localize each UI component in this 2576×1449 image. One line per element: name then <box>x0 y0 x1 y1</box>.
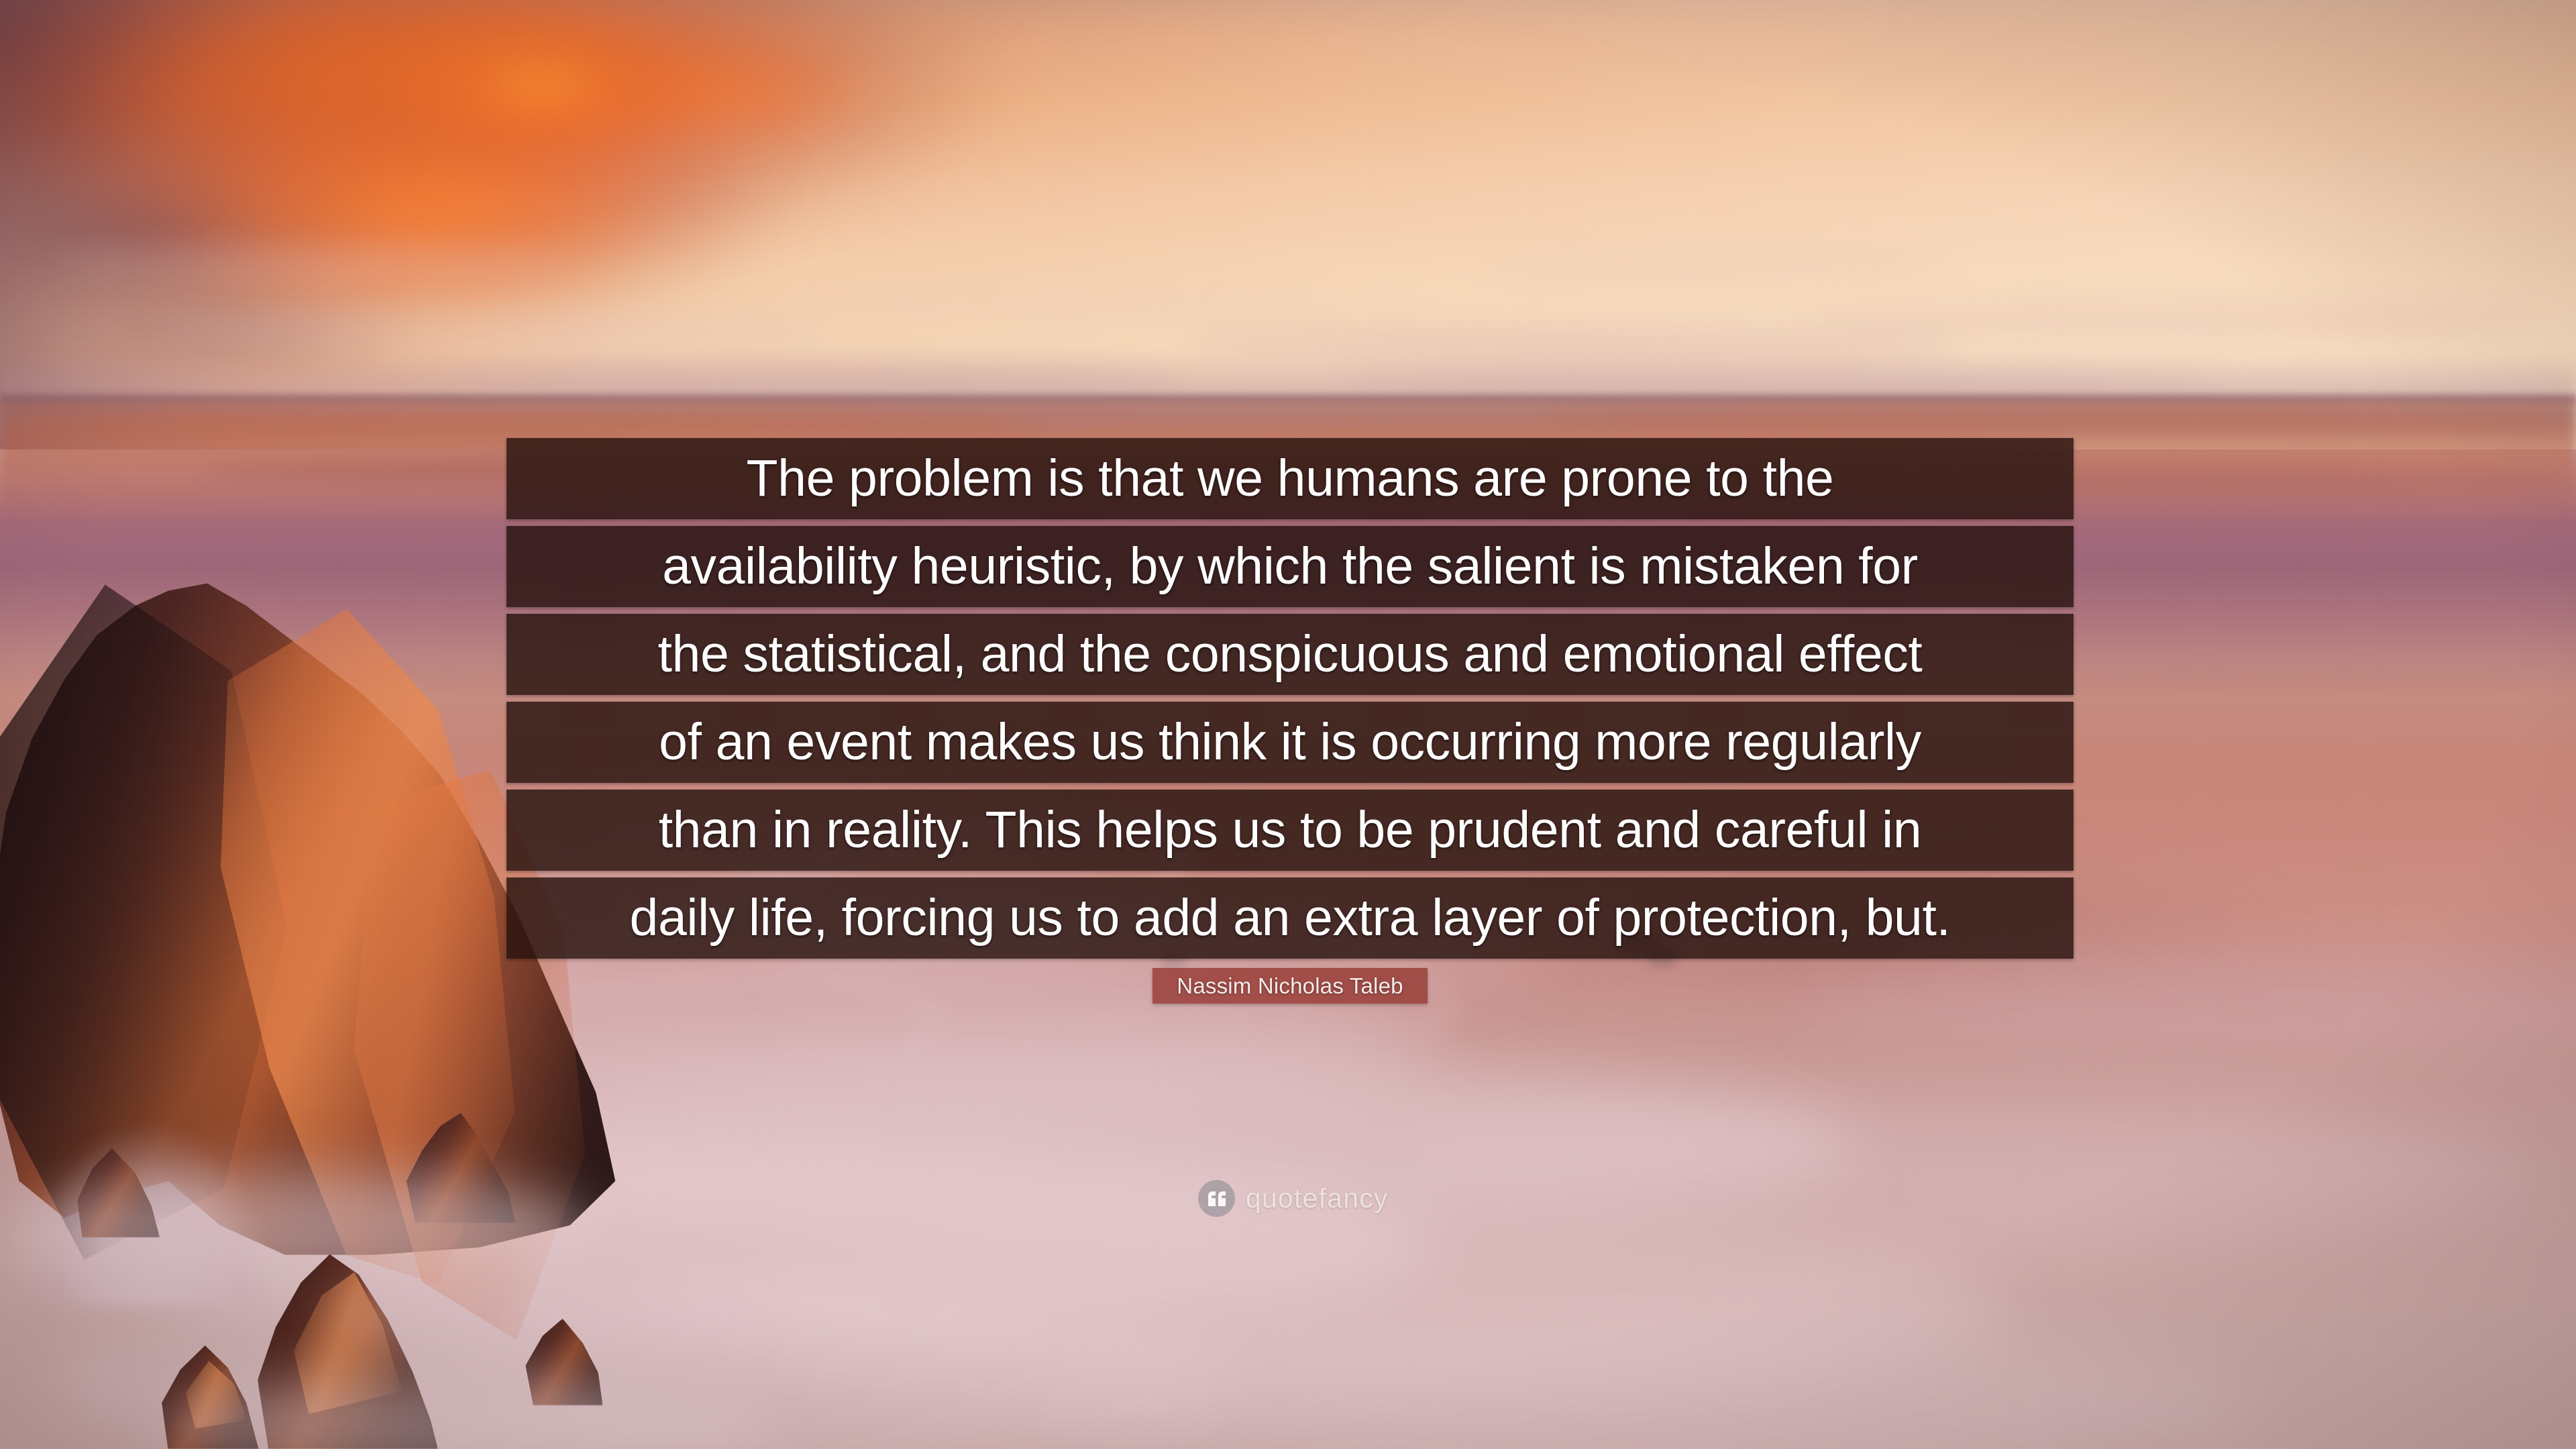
quote-wallpaper: The problem is that we humans are prone … <box>0 0 2576 1449</box>
quote-line: than in reality. This helps us to be pru… <box>506 790 2074 871</box>
quote-line: availability heuristic, by which the sal… <box>506 526 2074 607</box>
quote-line: daily life, forcing us to add an extra l… <box>506 877 2074 959</box>
quote-line-text: than in reality. This helps us to be pru… <box>659 804 1922 856</box>
author-name: Nassim Nicholas Taleb <box>1177 973 1403 999</box>
quote-mark-icon <box>1198 1180 1235 1217</box>
author-attribution: Nassim Nicholas Taleb <box>1152 968 1428 1004</box>
sea-streak <box>1546 409 2576 432</box>
quote-line: of an event makes us think it is occurri… <box>506 702 2074 783</box>
sea-streak <box>0 415 1030 438</box>
quote-line-text: the statistical, and the conspicuous and… <box>658 629 1923 680</box>
quote-line-text: daily life, forcing us to add an extra l… <box>630 892 1951 944</box>
quotefancy-watermark: quotefancy <box>1198 1180 1389 1217</box>
orange-cloud <box>541 15 902 160</box>
quote-line: the statistical, and the conspicuous and… <box>506 614 2074 695</box>
water-mist <box>25 1174 592 1290</box>
cloud-streak <box>773 290 1340 319</box>
cloud-streak <box>1803 305 2524 339</box>
quote-line: The problem is that we humans are prone … <box>506 438 2074 519</box>
quote-text-block: The problem is that we humans are prone … <box>506 438 2074 959</box>
cloud-streak <box>1494 252 1957 278</box>
cloud-streak <box>154 311 824 349</box>
quote-line-text: of an event makes us think it is occurri… <box>659 716 1921 768</box>
quote-line-text: The problem is that we humans are prone … <box>747 453 1834 504</box>
quotefancy-brand-text: quotefancy <box>1246 1183 1389 1214</box>
cloud-streak <box>52 246 567 278</box>
quote-line-text: availability heuristic, by which the sal… <box>662 541 1918 592</box>
